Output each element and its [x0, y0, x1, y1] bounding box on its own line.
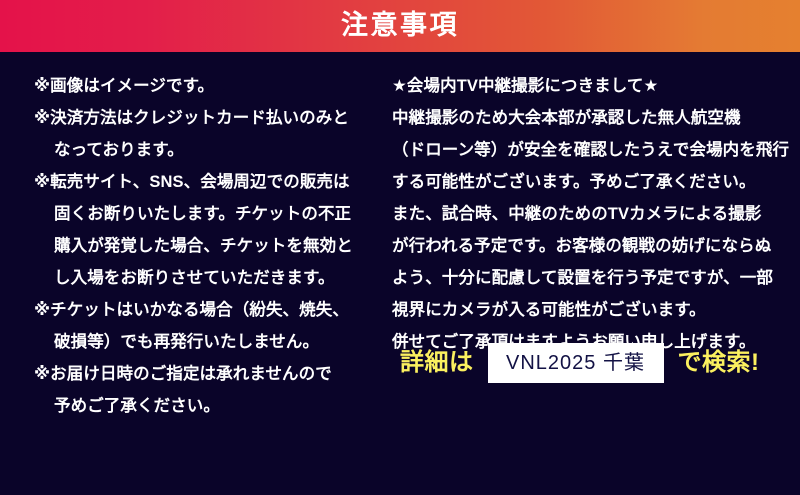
notice-line: する可能性がございます。予めご了承ください。	[392, 166, 772, 198]
notice-line: 中継撮影のため大会本部が承認した無人航空機	[392, 102, 772, 134]
notice-line: 固くお断りいたします。チケットの不正	[34, 198, 372, 230]
notice-line: 予めご了承ください。	[34, 390, 372, 422]
notice-line: なっております。	[34, 134, 372, 166]
right-notice-column: ★会場内TV中継撮影につきまして★ 中継撮影のため大会本部が承認した無人航空機 …	[372, 70, 772, 358]
header-band: 注意事項	[0, 0, 800, 52]
notice-body: ※画像はイメージです。 ※決済方法はクレジットカード払いのみと なっております。…	[0, 52, 800, 495]
notice-item: ※お届け日時のご指定は承れませんので 予めご了承ください。	[34, 358, 372, 422]
notice-line: （ドローン等）が安全を確認したうえで会場内を飛行	[392, 134, 772, 166]
notice-line: また、試合時、中継のためのTVカメラによる撮影	[392, 198, 772, 230]
search-keyword-text: VNL2025 千葉	[506, 353, 645, 373]
notice-line: 破損等）でも再発行いたしません。	[34, 326, 372, 358]
notice-line: ※決済方法はクレジットカード払いのみと	[34, 102, 372, 134]
broadcast-heading: ★会場内TV中継撮影につきまして★	[392, 70, 772, 102]
page-title: 注意事項	[341, 12, 459, 40]
left-notice-column: ※画像はイメージです。 ※決済方法はクレジットカード払いのみと なっております。…	[0, 70, 372, 422]
notice-line: よう、十分に配慮して設置を行う予定ですが、一部	[392, 262, 772, 294]
notice-line: が行われる予定です。お客様の観戦の妨げにならぬ	[392, 230, 772, 262]
notice-line: 視界にカメラが入る可能性がございます。	[392, 294, 772, 326]
notice-line: し入場をお断りさせていただきます。	[34, 262, 372, 294]
notice-item: ※決済方法はクレジットカード払いのみと なっております。	[34, 102, 372, 166]
notice-line: 購入が発覚した場合、チケットを無効と	[34, 230, 372, 262]
notice-poster: 注意事項 ※画像はイメージです。 ※決済方法はクレジットカード払いのみと なって…	[0, 0, 800, 495]
notice-item: ※画像はイメージです。	[34, 70, 372, 102]
notice-line: ※お届け日時のご指定は承れませんので	[34, 358, 372, 390]
notice-item: ※転売サイト、SNS、会場周辺での販売は 固くお断りいたします。チケットの不正 …	[34, 166, 372, 294]
notice-line: ※画像はイメージです。	[34, 70, 372, 102]
notice-item: ※チケットはいかなる場合（紛失、焼失、 破損等）でも再発行いたしません。	[34, 294, 372, 358]
notice-line: ※チケットはいかなる場合（紛失、焼失、	[34, 294, 372, 326]
search-cta-label: 詳細は	[400, 351, 474, 375]
search-cta-suffix: で検索!	[678, 351, 760, 375]
search-keyword-box[interactable]: VNL2025 千葉	[488, 343, 664, 383]
notice-line: ※転売サイト、SNS、会場周辺での販売は	[34, 166, 372, 198]
search-cta: 詳細は VNL2025 千葉 で検索!	[400, 343, 760, 383]
